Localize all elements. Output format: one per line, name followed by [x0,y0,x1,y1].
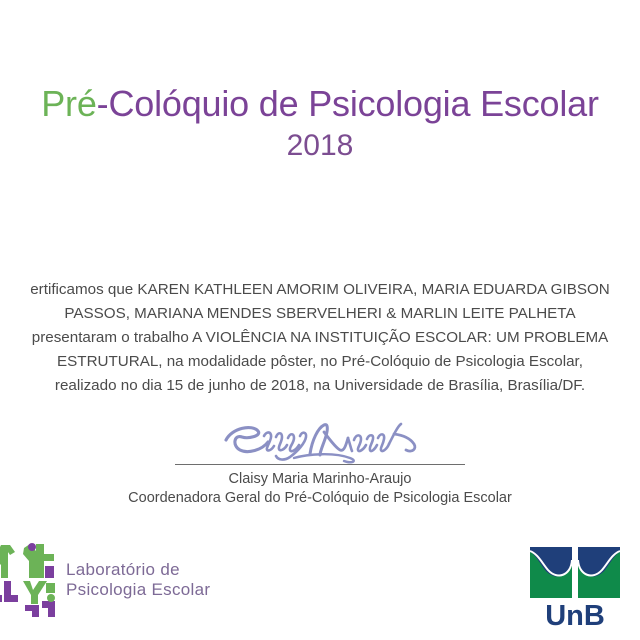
lab-logo-grid [0,542,57,617]
title-year: 2018 [0,128,640,164]
lab-logo-tile-top-left [0,542,18,578]
lab-logo-wordmark: Laboratório de Psicologia Escolar [66,560,210,600]
unb-logo: UnB [529,546,621,632]
body-line-5: realizado no dia 15 de junho de 2018, na… [0,374,640,398]
lab-logo-tile-bottom-left [0,581,18,617]
footer-logos: Laboratório de Psicologia Escolar UnB [0,538,640,640]
page-title: Pré-Colóquio de Psicologia Escolar [0,84,640,124]
body-line-3: presentaram o trabalho A VIOLÊNCIA NA IN… [0,326,640,350]
unb-wordmark: UnB [529,600,621,632]
certificate-body: ertificamos que KAREN KATHLEEN AMORIM OL… [0,278,640,398]
signature-mark [0,418,640,464]
lab-logo-tile-bottom-right [21,581,57,617]
body-line-4: ESTRUTURAL, na modalidade pôster, no Pré… [0,350,640,374]
certificate-page: Pré-Colóquio de Psicologia Escolar 2018 … [0,0,640,640]
lab-logo-tile-top-right [21,542,57,578]
signature-name: Claisy Maria Marinho-Araujo [0,470,640,489]
lab-logo-line-2: Psicologia Escolar [66,580,210,600]
lab-logo-line-1: Laboratório de [66,560,210,580]
laboratorio-de-psicologia-escolar-logo: Laboratório de Psicologia Escolar [0,542,210,617]
title-rest: -Colóquio de Psicologia Escolar [97,83,599,124]
title-prefix: Pré [41,83,96,124]
signature-role: Coordenadora Geral do Pré-Colóquio de Ps… [0,489,640,508]
body-line-2: PASSOS, MARIANA MENDES SBERVELHERI & MAR… [0,302,640,326]
title-block: Pré-Colóquio de Psicologia Escolar 2018 [0,84,640,164]
signature-block: Claisy Maria Marinho-Araujo Coordenadora… [0,418,640,508]
body-line-1: ertificamos que KAREN KATHLEEN AMORIM OL… [0,278,640,302]
